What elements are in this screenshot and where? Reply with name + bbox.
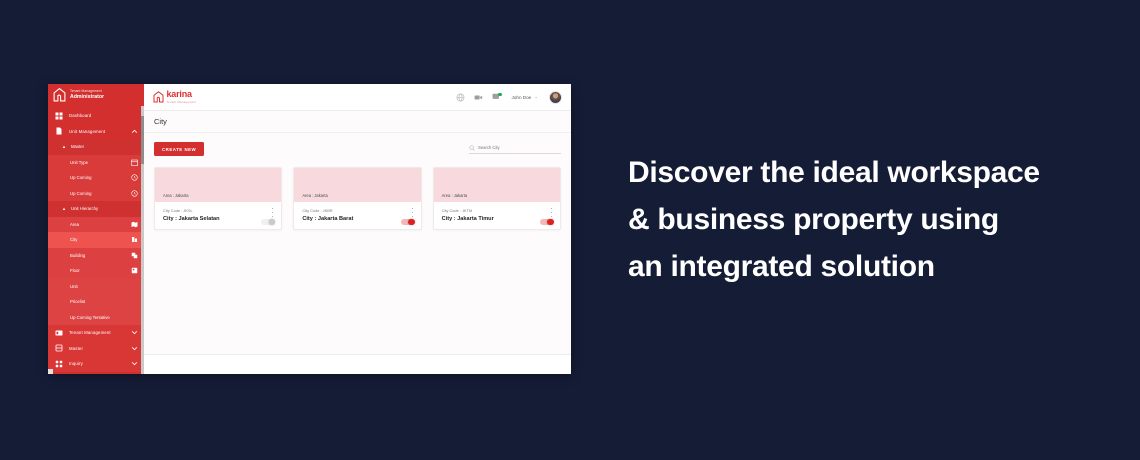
sidebar-menu: Dashboard Unit Management ▲ Master (48, 106, 144, 372)
kebab-menu-icon[interactable] (271, 208, 274, 217)
sidebar-item-label: City (70, 237, 131, 242)
sidebar-item-label: Building (70, 253, 131, 258)
footer-bar (144, 354, 571, 374)
kebab-menu-icon[interactable] (550, 208, 553, 217)
card-area-label: Area : Jakarta (442, 193, 467, 198)
video-icon[interactable] (474, 93, 483, 102)
brand-logo[interactable]: karina Tenant Management (153, 90, 196, 103)
card-area-label: Area : Jakarta (302, 193, 327, 198)
avatar[interactable] (549, 91, 562, 104)
sidebar-header: Tenant Management Administrator (48, 84, 144, 106)
chevron-down-icon[interactable] (131, 345, 138, 352)
sidebar-item-area[interactable]: Area (48, 217, 144, 233)
sidebar-item-label: Master (69, 346, 131, 351)
floor-icon (131, 267, 138, 274)
sidebar-item-label: Inquiry (69, 361, 131, 366)
sidebar-item-label: Up Coming (70, 175, 131, 180)
city-icon (131, 236, 138, 243)
headline: Discover the ideal workspace & business … (628, 150, 1098, 290)
sidebar-group-label: Unit Hierarchy (71, 206, 98, 211)
sidebar-item-unit-type[interactable]: Unit Type (48, 155, 144, 171)
card-status-toggle[interactable] (261, 219, 275, 226)
sidebar-item-label: Pricelist (70, 299, 138, 304)
card-name-label: City : Jakarta Selatan (163, 216, 273, 222)
card-name-label: City : Jakarta Timur (442, 216, 552, 222)
card-body: City Code : JKBR City : Jakarta Barat (294, 202, 420, 229)
sidebar-item-label: Unit Management (69, 129, 131, 134)
topbar-actions: John Doe ⌄ (456, 91, 562, 104)
card-area-label: Area : Jakarta (163, 193, 188, 198)
toggle-knob (547, 219, 554, 226)
sidebar-item-pricelist[interactable]: Pricelist (48, 294, 144, 310)
sidebar-item-tenant-management[interactable]: Tenant Management (48, 325, 144, 341)
dashboard-icon (55, 112, 63, 120)
card-status-toggle[interactable] (401, 219, 415, 226)
sidebar-header-text: Tenant Management Administrator (70, 90, 104, 100)
headline-line-3: an integrated solution (628, 244, 1098, 291)
sidebar-item-city[interactable]: City (48, 232, 144, 248)
user-name: John Doe (512, 95, 532, 100)
toggle-knob (269, 219, 276, 226)
card-code-label: City Code : JKTM (442, 208, 552, 213)
sidebar-group-unit-hierarchy[interactable]: ▲ Unit Hierarchy (48, 201, 144, 217)
caret-up-icon: ▲ (62, 206, 66, 211)
chevron-down-icon[interactable] (131, 360, 138, 367)
clock-icon (131, 174, 138, 181)
search-icon (469, 145, 475, 151)
sidebar-header-bottom: Administrator (70, 95, 104, 100)
page-title: City (154, 117, 167, 126)
sidebar-item-dashboard[interactable]: Dashboard (48, 108, 144, 124)
calendar-icon (131, 159, 138, 166)
card-header: Area : Jakarta (294, 168, 420, 202)
topbar: karina Tenant Management (144, 84, 571, 111)
sidebar-group-label: Master (71, 144, 84, 149)
card-name-label: City : Jakarta Barat (302, 216, 412, 222)
sidebar-item-unit[interactable]: Unit (48, 279, 144, 295)
building-icon (131, 252, 138, 259)
scroll-corner (48, 369, 53, 374)
house-icon (53, 88, 66, 102)
database-icon (55, 344, 63, 352)
app-window: Tenant Management Administrator Dashboar… (48, 84, 571, 374)
headline-line-2: & business property using (628, 197, 1098, 244)
sidebar-item-label: Floor (70, 268, 131, 273)
sidebar-item-unit-management[interactable]: Unit Management (48, 124, 144, 140)
city-card[interactable]: Area : Jakarta City Code : JKTM City : J… (433, 167, 561, 230)
brand-text: karina Tenant Management (167, 90, 197, 103)
sidebar-item-floor[interactable]: Floor (48, 263, 144, 279)
notification-badge (498, 93, 502, 97)
sidebar-item-label: Tenant Management (69, 330, 131, 335)
search-box[interactable] (469, 145, 561, 154)
user-menu[interactable]: John Doe ⌄ (512, 94, 538, 100)
card-header: Area : Jakarta (155, 168, 281, 202)
search-input[interactable] (478, 145, 561, 150)
toggle-knob (408, 219, 415, 226)
brand-subtitle: Tenant Management (167, 101, 197, 104)
sidebar-item-label: Area (70, 222, 131, 227)
sidebar-item-label: Up Coming (70, 191, 131, 196)
chevron-down-icon[interactable]: ⌄ (534, 94, 538, 100)
main-area: karina Tenant Management (144, 84, 571, 374)
card-header: Area : Jakarta (434, 168, 560, 202)
sidebar-group-master[interactable]: ▲ Master (48, 139, 144, 155)
sidebar-item-label: Unit (70, 284, 138, 289)
card-status-toggle[interactable] (540, 219, 554, 226)
sidebar-item-label: Unit Type (70, 160, 131, 165)
toolbar: CREATE NEW (154, 142, 561, 156)
city-card-list: Area : Jakarta City Code : JKSL City : J… (154, 167, 561, 230)
card-code-label: City Code : JKSL (163, 208, 273, 213)
sidebar-item-label: Dashboard (69, 113, 138, 118)
card-code-label: City Code : JKBR (302, 208, 412, 213)
kebab-menu-icon[interactable] (411, 208, 414, 217)
content-area: CREATE NEW Area : Jakarta (144, 133, 571, 354)
page-header: City (144, 111, 571, 133)
city-card[interactable]: Area : Jakarta City Code : JKBR City : J… (293, 167, 421, 230)
sidebar-item-building[interactable]: Building (48, 248, 144, 264)
sidebar-item-up-coming-2[interactable]: Up Coming (48, 186, 144, 202)
grid-icon (55, 360, 63, 368)
house-icon (153, 91, 164, 103)
chevron-up-icon[interactable] (131, 128, 138, 135)
card-body: City Code : JKTM City : Jakarta Timur (434, 202, 560, 229)
create-new-button[interactable]: CREATE NEW (154, 142, 204, 156)
sidebar-item-up-coming-tentative[interactable]: Up Coming Tentative (48, 310, 144, 326)
document-icon (55, 127, 63, 135)
caret-up-icon: ▲ (62, 144, 66, 149)
sidebar: Tenant Management Administrator Dashboar… (48, 84, 144, 374)
brand-name: karina (167, 90, 197, 99)
clock-icon (131, 190, 138, 197)
headline-line-1: Discover the ideal workspace (628, 150, 1098, 197)
card-body: City Code : JKSL City : Jakarta Selatan (155, 202, 281, 229)
sidebar-header-top: Tenant Management (70, 90, 104, 93)
city-card[interactable]: Area : Jakarta City Code : JKSL City : J… (154, 167, 282, 230)
chevron-down-icon[interactable] (131, 329, 138, 336)
globe-icon[interactable] (456, 93, 465, 102)
sidebar-bottom-menu: Tenant Management Master (48, 325, 144, 372)
sidebar-item-inquiry[interactable]: Inquiry (48, 356, 144, 372)
map-icon (131, 221, 138, 228)
sidebar-item-master[interactable]: Master (48, 341, 144, 357)
id-card-icon (55, 329, 63, 337)
message-icon[interactable] (492, 93, 501, 102)
sidebar-item-up-coming-1[interactable]: Up Coming (48, 170, 144, 186)
sidebar-item-label: Up Coming Tentative (70, 315, 138, 320)
